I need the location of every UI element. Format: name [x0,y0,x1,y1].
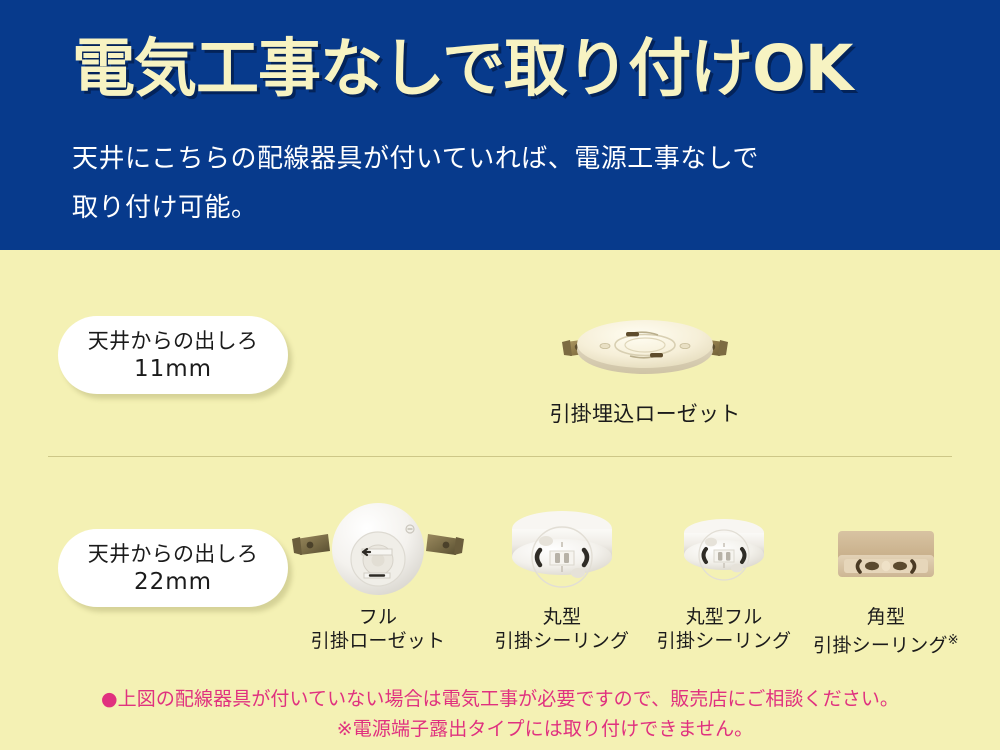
caption-line-1: フル [311,605,445,629]
product-round-ceiling-socket: 丸型 引掛シーリング [478,503,646,653]
badge-label-line-1: 天井からの出しろ [88,328,258,355]
section-divider [48,456,952,457]
product-round-full-ceiling-socket: 丸型フル 引掛シーリング [640,503,808,653]
caption-line-2: 引掛シーリング [495,629,629,653]
caption-line-2: 引掛シーリング※ [813,629,959,657]
square-ceiling-socket-photo [816,503,956,599]
product-full-hook-rosette: フル 引掛ローゼット [288,503,468,653]
round-full-ceiling-socket-photo [640,503,808,599]
header-subtitle: 天井にこちらの配線器具が付いていれば、電源工事なしで 取り付け可能。 [72,135,952,233]
full-hook-rosette-photo [288,503,468,599]
caption-line-1: 角型 [813,605,959,629]
footer-note-1: ●上図の配線器具が付いていない場合は電気工事が必要ですので、販売店にご相談くださ… [0,684,1000,714]
caption-line-2-text: 引掛シーリング [813,634,947,656]
infographic-page: 電気工事なしで取り付けOK 天井にこちらの配線器具が付いていれば、電源工事なしで… [0,0,1000,750]
product-caption-embedded-rosette: 引掛埋込ローゼット [550,402,741,426]
footer-notes: ●上図の配線器具が付いていない場合は電気工事が必要ですので、販売店にご相談くださ… [0,684,1000,744]
header-subtitle-line-2: 取り付け可能。 [72,184,952,233]
product-caption-full-hook-rosette: フル 引掛ローゼット [311,605,445,653]
header-subtitle-line-1: 天井にこちらの配線器具が付いていれば、電源工事なしで [72,135,952,184]
badge-label-line-2: 22mm [134,568,212,596]
footer-note-2: ※電源端子露出タイプには取り付けできません。 [0,714,1000,744]
badge-label-line-1: 天井からの出しろ [88,541,258,568]
badge-clearance-11mm: 天井からの出しろ 11mm [58,316,288,394]
embedded-rosette-photo [550,312,740,384]
product-embedded-rosette: 引掛埋込ローゼット [510,312,780,426]
round-ceiling-socket-photo [478,503,646,599]
badge-clearance-22mm: 天井からの出しろ 22mm [58,529,288,607]
product-square-ceiling-socket: 角型 引掛シーリング※ [800,503,972,657]
caption-line-2: 引掛シーリング [657,629,791,653]
caption-line-1: 丸型 [495,605,629,629]
caption-line-1: 丸型フル [657,605,791,629]
page-title: 電気工事なしで取り付けOK [72,33,853,105]
caption-line-2: 引掛ローゼット [311,629,445,653]
product-caption-round-ceiling-socket: 丸型 引掛シーリング [495,605,629,653]
reference-mark-icon: ※ [948,633,959,648]
badge-label-line-2: 11mm [134,355,212,383]
product-caption-square-ceiling-socket: 角型 引掛シーリング※ [813,605,959,657]
header-banner: 電気工事なしで取り付けOK 天井にこちらの配線器具が付いていれば、電源工事なしで… [0,0,1000,250]
product-caption-round-full-ceiling-socket: 丸型フル 引掛シーリング [657,605,791,653]
